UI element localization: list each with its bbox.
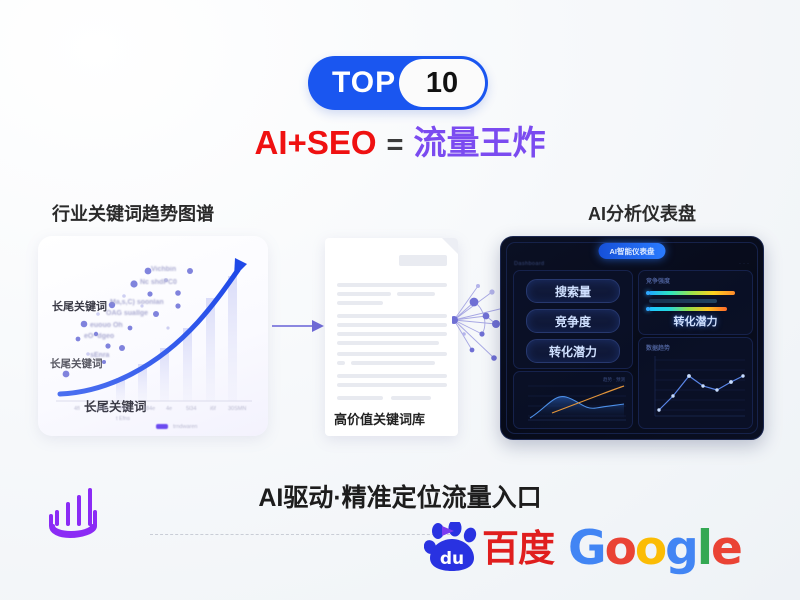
blurred-tag-7: sEnra — [90, 352, 109, 359]
page-fold-icon — [442, 238, 458, 254]
blurred-tag-4: OAG suallge — [106, 310, 148, 317]
axis-tick-1: 4fl — [74, 406, 80, 412]
metric-pill-conversion[interactable]: 转化潜力 — [526, 339, 620, 363]
metric-pill-search-volume[interactable]: 搜索量 — [526, 279, 620, 303]
blurred-tag-2: Nc shdPC0 — [140, 279, 177, 286]
gauge-dot-2 — [646, 307, 650, 311]
google-letter-g2: g — [665, 521, 697, 576]
google-wordmark: Google — [568, 525, 741, 572]
trend-chart-panel: 数据趋势 — [638, 337, 753, 429]
dashboard-title-badge: AI智能仪表盘 — [599, 243, 666, 259]
doc-line — [337, 314, 447, 318]
page-title: AI+SEO=流量王炸 — [0, 126, 800, 160]
blurred-tag-1: Vichbin — [151, 266, 176, 273]
google-letter-l: l — [697, 521, 711, 576]
google-letter-g1: G — [568, 521, 605, 576]
dashboard-menu-icon[interactable]: ··· — [739, 261, 751, 267]
axis-tick-6: 5l34 — [186, 406, 196, 412]
blurred-tag-3: Ma,s,C) soonlan — [110, 299, 164, 306]
google-letter-o1: o — [605, 521, 635, 576]
doc-line — [337, 283, 447, 287]
bottom-tagline: AI驱动·精准定位流量入口 — [0, 478, 800, 514]
doc-bullet — [337, 361, 345, 365]
axis-note: t Efns — [116, 416, 130, 422]
flow-arrow-icon — [272, 318, 326, 334]
doc-line — [337, 292, 391, 296]
title-equals: = — [387, 129, 404, 161]
doc-line — [337, 323, 447, 327]
competition-gauge-panel: 竞争强度 转化潜力 — [638, 270, 753, 335]
gauge-bar-3 — [649, 307, 727, 311]
slide-canvas: TOP 10 AI+SEO=流量王炸 行业关键词趋势图谱 AI分析仪表盘 — [0, 0, 800, 600]
ai-dashboard-card: AI智能仪表盘 Dashboard ··· 搜索量 竞争度 转化潜力 趋势 · … — [500, 236, 764, 440]
doc-line — [391, 396, 431, 400]
keyword-trend-card: 长尾关键词 长尾关键词 长尾关键词 Vichbin Nc shdPC0 Ma,s… — [38, 236, 268, 436]
doc-line — [337, 396, 383, 400]
axis-tick-3: f0LL — [120, 406, 131, 412]
dashboard-subtitle: Dashboard — [514, 261, 545, 267]
area-chart-svg — [514, 372, 632, 428]
gauge-bar-2 — [649, 299, 717, 303]
axis-tick-2: 334s — [96, 406, 108, 412]
blurred-tag-5: euouo Oh — [90, 322, 123, 329]
doc-line — [337, 352, 447, 356]
doc-line — [337, 383, 447, 387]
blurred-tag-6: eO~dgeo — [84, 333, 114, 340]
doc-line — [337, 332, 447, 336]
area-chart-panel: 趋势 · 预测 — [513, 371, 633, 429]
rank-number: 10 — [426, 69, 458, 98]
baidu-wordmark: 百度 — [482, 530, 554, 567]
doc-line — [337, 341, 439, 345]
google-letter-e: e — [711, 521, 741, 576]
legend-swatch — [156, 424, 168, 429]
trend-line-svg — [639, 338, 752, 428]
keyword-label-1: 长尾关键词 — [52, 298, 107, 314]
axis-tick-5: 4e — [166, 406, 172, 412]
gauge-overlay-label: 转化潜力 — [674, 313, 718, 329]
doc-line — [337, 301, 383, 305]
top-rank-badge: TOP 10 — [308, 56, 488, 110]
legend-label: trndwaren — [173, 424, 197, 430]
axis-tick-7: i6f — [210, 406, 216, 412]
title-ai-seo: AI+SEO — [255, 124, 377, 161]
gauge-dot-1 — [646, 291, 650, 295]
doc-caption: 高价值关键词库 — [334, 409, 425, 428]
doc-line — [397, 292, 435, 296]
keyword-library-card: 高价值关键词库 — [325, 238, 458, 436]
axis-tick-8: 30SMN — [228, 406, 246, 412]
doc-line — [351, 361, 435, 365]
doc-line — [337, 374, 447, 378]
metric-pill-competition[interactable]: 竞争度 — [526, 309, 620, 333]
top-label: TOP — [332, 68, 396, 98]
search-engine-logos: du 百度 Google — [424, 522, 741, 574]
google-letter-o2: o — [635, 521, 665, 576]
gauge-panel-title: 竞争强度 — [646, 276, 670, 285]
connector-dashed-line — [150, 534, 450, 536]
gauge-bar-1 — [649, 291, 735, 295]
dashline-arrow-icon — [440, 524, 456, 538]
axis-tick-4: 184e — [143, 406, 155, 412]
keyword-label-3: 长尾关键词 — [84, 396, 147, 415]
title-highlight: 流量王炸 — [413, 124, 545, 161]
doc-header-chip — [399, 255, 447, 266]
left-section-caption: 行业关键词趋势图谱 — [52, 200, 214, 226]
baidu-du-text: du — [440, 549, 464, 569]
right-section-caption: AI分析仪表盘 — [588, 200, 696, 226]
rank-number-pill: 10 — [399, 59, 485, 107]
metrics-panel: 搜索量 竞争度 转化潜力 — [513, 270, 633, 369]
